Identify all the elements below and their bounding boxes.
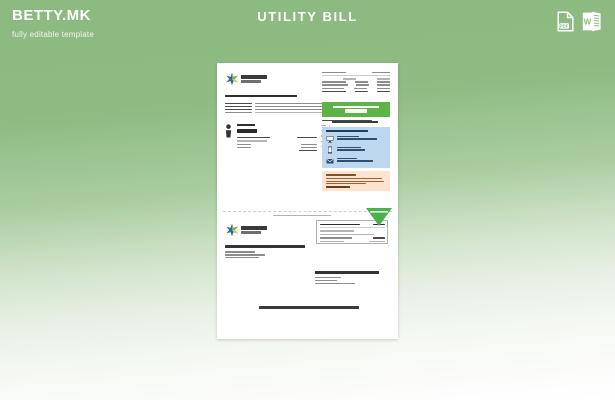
phone-icon: [326, 146, 334, 154]
acct-summary-header-right-value: Sep 01 2020: [322, 94, 323, 95]
stub-amount-row-value-1: $66.00: [320, 244, 321, 245]
reminder-line: [322, 120, 390, 121]
summary-heading-text: Summary of your current charges: [217, 63, 218, 64]
mini-row-label-3: New Charges: [237, 153, 238, 154]
acct-summary-header-right: Statement Date: [322, 94, 323, 95]
remit-address-block: ALLIANT ENERGY PO BOX 3068 CEDAR RAPIDS,…: [315, 271, 385, 286]
stub-detach-note-text: Please detach and return this portion wi…: [217, 63, 218, 64]
mini-row-value-1: $0.00: [237, 153, 238, 154]
acct-summary-row-label-1: Payment received: [322, 94, 323, 95]
stub-amount-row-label-2: Due Date: [320, 244, 321, 245]
amount-due-arrow-icon: [366, 208, 392, 226]
acct-summary-row-amount-2: $0.00: [322, 94, 323, 95]
acct-summary-row-usage-3: $66.00: [322, 94, 323, 95]
stub-amount-row-value-2: Aug 15 2020: [320, 244, 321, 245]
stub-amount-header-label: AMOUNT DUE Aug 15, 2020: [320, 244, 321, 245]
mini-row-label-2: Payments: [237, 153, 238, 154]
account-field-value-2: 123 MAIN STREET, ANYTOWN: [225, 115, 226, 116]
person-icon: [225, 124, 232, 138]
check-amount-text: $66.00: [217, 63, 218, 64]
account-field-label-0: Account Name: [225, 115, 226, 116]
table-row: [322, 88, 390, 89]
table-row: [320, 230, 385, 231]
remit-name-line: [315, 271, 379, 274]
terms-body-text: Your account is due 21 days after the da…: [326, 188, 327, 189]
table-row: [237, 150, 317, 151]
logo-wordmark-stub: [241, 226, 267, 234]
mini-row-label-1: Previous Balance: [237, 153, 238, 154]
account-field-label-2: Service Address: [225, 115, 226, 116]
acct-summary-row-usage-1: 08/05/20: [322, 94, 323, 95]
table-row: [320, 237, 385, 238]
mini-row-value-0: CURRENT: [237, 153, 238, 154]
brand-tagline: fully editable template: [12, 30, 94, 39]
contact-line2-2: Cedar Rapids, IA 52406-3068: [326, 168, 327, 169]
check-label-text: Check: [217, 63, 218, 64]
contact-line2-0: customerservice@alliantenergy.com: [326, 168, 327, 169]
customer-name-line: [225, 245, 305, 248]
mini-row-value-2: $0.00: [237, 153, 238, 154]
account-field-value-1: Aug 01 2020 - Sep 01 2020: [225, 115, 226, 116]
remit-address-line-1: CEDAR RAPIDS, IA 52406-3068: [315, 286, 316, 287]
table-row: [322, 91, 390, 92]
account-field-value-0: JOHN SMITH: [225, 115, 226, 116]
stub-detach-note: [273, 215, 333, 216]
customer-address-block: JOHN SMITH 123 MAIN STREET ANYTOWN, IA 5…: [225, 245, 311, 260]
alliant-energy-logo: Alliant Energy: [225, 72, 283, 88]
stub-amount-row-label-1: Amount Enclosed: [320, 244, 321, 245]
table-row: [237, 137, 317, 138]
message-board-text: Message Board: [326, 188, 327, 189]
stub-amount-row-label-0: Account Number: [320, 244, 321, 245]
contact-entry: [326, 135, 386, 143]
terms-title-text: Terms and Conditions: [326, 188, 327, 189]
utility-bill-document[interactable]: Alliant Energy Summary of your current c…: [217, 63, 398, 339]
message-board-label: [326, 186, 350, 188]
contact-line1-2: P.O. Box 3068: [326, 168, 327, 169]
mail-icon: [326, 157, 334, 165]
table-row: [237, 144, 317, 145]
page-title: UTILITY BILL: [0, 9, 615, 24]
micr-line-text: 1234 5678901234567890 123456 7890: [217, 63, 218, 64]
contact-entry: [326, 157, 386, 165]
table-row: [320, 241, 385, 242]
table-row: [320, 234, 385, 235]
word-file-icon[interactable]: W: [582, 11, 602, 32]
contact-box: Questions? Contact us at:: [322, 127, 390, 168]
terms-and-conditions-box: Terms and Conditions Your account is due…: [322, 171, 390, 191]
check-amount: [237, 129, 257, 133]
mini-row-label-0: Electric Service: [237, 153, 238, 154]
amount-due-banner: Amount Due on Aug 15, 2020 $66.00: [322, 102, 390, 117]
account-field-label-1: Last Meter Reading: [225, 115, 226, 116]
acct-summary-row-amount-1: -$60.00: [322, 94, 323, 95]
account-field-row: [225, 109, 325, 110]
format-icons: PDF W: [557, 11, 602, 32]
acct-summary-row-label-2: Balance forward: [322, 94, 323, 95]
monitor-icon: [326, 135, 334, 143]
acct-summary-row-usage-0: 525 kWh: [322, 94, 323, 95]
logo-name-line-1: Alliant: [225, 86, 226, 87]
alliant-energy-logo-stub: [225, 223, 283, 239]
acct-summary-row-label-3: Current Charges: [322, 94, 323, 95]
account-fields: Account Name JOHN SMITH Last Meter Readi…: [225, 103, 325, 115]
table-row: [322, 81, 390, 82]
charges-mini-table: Electric Service CURRENT Previous Balanc…: [237, 137, 317, 153]
contact-line2-1: (1-800-255-4268): [326, 168, 327, 169]
contact-line1-1: 1-800-ALLIANT: [326, 168, 327, 169]
account-summary-colheads: [322, 78, 390, 79]
account-summary-panel: Account Number 12345678 Statement Date S…: [322, 72, 390, 94]
contact-entry: [326, 146, 386, 154]
reminder-line-text: Reminder Aug 15 2020 $66.00: [217, 63, 218, 64]
account-field-row: [225, 103, 325, 104]
remit-address-line-0: PO BOX 3068: [315, 286, 316, 287]
logo-name-line-2: Energy: [225, 86, 226, 87]
chart-title: [332, 121, 378, 123]
acct-summary-row-amount-3: $66.00: [322, 94, 323, 95]
svg-text:PDF: PDF: [560, 24, 569, 29]
customer-address-line-0: 123 MAIN STREET: [225, 260, 226, 261]
stub-amount-row-value-0: 12345678: [320, 244, 321, 245]
table-row: [237, 140, 317, 141]
summary-heading: [225, 95, 311, 97]
customer-address-line-1: ANYTOWN, IA 50001: [225, 260, 226, 261]
acct-summary-header-left: Account Number: [322, 94, 323, 95]
account-field-row: [225, 106, 325, 107]
check-label: [237, 124, 259, 126]
terms-title: [326, 174, 356, 176]
contact-box-title: [326, 130, 368, 132]
screenshot-root: BETTY.MK fully editable template UTILITY…: [0, 0, 615, 400]
micr-line: [259, 306, 359, 309]
acct-summary-header-left-value: 12345678: [322, 94, 323, 95]
acct-summary-row-amount-0: $66.00: [322, 94, 323, 95]
acct-summary-row-usage-2: $0.00: [322, 94, 323, 95]
acct-summary-row-label-0: Electric Service: [322, 94, 323, 95]
account-summary-header: [322, 72, 390, 76]
table-row: [322, 84, 390, 85]
account-field-row: [225, 112, 325, 113]
stub-amount-header-value: $66.00: [320, 244, 321, 245]
remit-name-text: ALLIANT ENERGY: [315, 286, 316, 287]
table-row: [237, 147, 317, 148]
logo-wordmark: [241, 75, 267, 83]
customer-name-text: JOHN SMITH: [225, 260, 226, 261]
arrow-tag-text: Amount Due: [217, 63, 218, 64]
pdf-file-icon[interactable]: PDF: [557, 11, 574, 32]
contact-line1-0: alliantenergy.com: [326, 168, 327, 169]
svg-text:W: W: [584, 17, 592, 26]
mini-row-value-3: $66.00: [237, 153, 238, 154]
